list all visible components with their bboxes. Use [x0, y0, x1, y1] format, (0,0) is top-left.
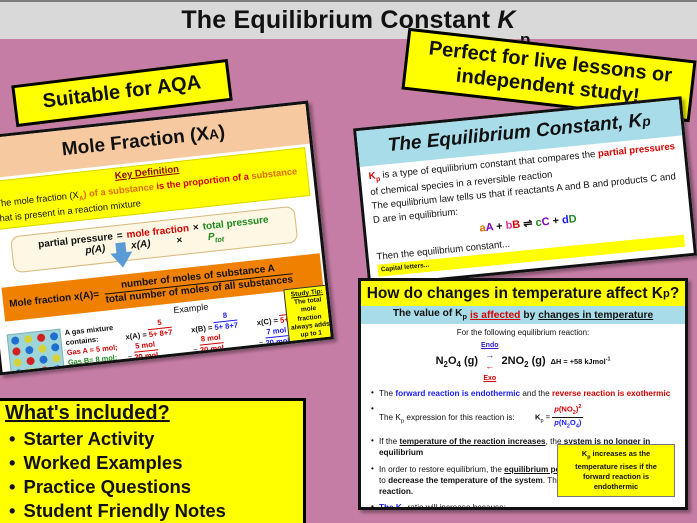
page-title-text: The Equilibrium Constant — [181, 6, 497, 34]
temp-title-sub: p — [663, 288, 670, 300]
gas-mixture-diagram — [7, 329, 66, 376]
mole-fraction-title-text: Mole Fraction (X — [61, 124, 210, 162]
panel-whats-included: What's included? Starter Activity Worked… — [0, 398, 306, 523]
calc-b-fraction2: 8 mol20 mol — [198, 332, 224, 355]
b4-p3: decrease the temperature of the system — [388, 476, 543, 485]
kp-p1-b: partial pressures — [597, 141, 675, 159]
gas-legend: A gas mixture contains: Gas A = 5 mol; G… — [64, 322, 125, 375]
calc-a-den2: 20 mol — [134, 350, 159, 362]
rxn-right: 2NO2 (g) — [502, 355, 546, 367]
gas-particle-dot — [40, 366, 49, 375]
pp-equals: = — [116, 231, 123, 243]
kp-expression: Kp = p(NO2)2 p(N2O4) — [535, 404, 583, 431]
kpexp-num-a: (NO — [559, 405, 573, 414]
study-tip-box: Study Tip: The total mole fraction alway… — [283, 284, 334, 344]
temp-intro: For the following equilibrium reaction: — [361, 328, 685, 337]
temp-sub-a-sub: p — [462, 313, 466, 322]
temp-title-end: ? — [670, 285, 679, 303]
gas-particle-dot — [26, 356, 35, 365]
gas-particle-dot — [10, 336, 19, 345]
gas-particle-dot — [50, 342, 59, 351]
kpexp-num-sup: 2 — [578, 404, 581, 410]
pp-sym-mid: x(A) — [131, 239, 152, 254]
page-title-bar: The Equilibrium Constant K — [0, 0, 697, 39]
b1-p0: The — [379, 389, 395, 398]
gas-particle-dot — [27, 367, 36, 375]
gas-particle-dot — [37, 344, 46, 353]
kpexp-den-a: (N — [559, 418, 567, 427]
pp-times: × — [192, 223, 199, 235]
calc-c-eq2: = — [259, 338, 264, 347]
calc-a-den: 5+ 8+7 — [148, 327, 172, 339]
list-item: The Kp ratio will increase because: p(NO… — [371, 502, 677, 510]
calc-a-eq2: = — [127, 353, 132, 362]
rxn-left-o: O — [448, 355, 457, 367]
eq-reversible-arrow-icon: ⇌ — [520, 217, 536, 230]
gas-particle-dot — [14, 369, 23, 376]
temperature-card-title: How do changes in temperature affect Kp? — [361, 281, 685, 306]
pp-sym-left: p(A) — [85, 244, 106, 259]
pp-sym-times: × — [176, 235, 183, 249]
banner-aqa-label: Suitable for AQA — [42, 72, 203, 115]
calc-a-fraction2: 5 mol20 mol — [133, 339, 159, 362]
rxn-dh-sup: -1 — [606, 356, 611, 362]
study-tip-body: The total mole fraction always adds up t… — [291, 297, 330, 339]
calc-b-den: 5+ 8+7 — [214, 320, 238, 332]
rxn-endo-label: Endo — [481, 342, 499, 349]
whats-included-heading: What's included? — [0, 401, 303, 425]
calc-b-den2: 20 mol — [199, 343, 224, 355]
gas-particle-dot — [53, 364, 62, 373]
gas-particle-dot — [23, 334, 32, 343]
gas-particle-dot — [49, 332, 58, 341]
gas-particle-dot — [39, 355, 48, 364]
b3-p1: temperature of the reaction increases — [399, 437, 545, 446]
calc-b-eq2: = — [193, 346, 198, 355]
list-item: Student Friendly Notes — [9, 499, 303, 523]
list-item: The Kp expression for this reaction is: … — [371, 404, 677, 431]
b5-lead-a: The K — [379, 503, 402, 510]
temp-sub-a: The value of Kp — [393, 308, 467, 321]
calc-a-result: = 0.25 — [128, 361, 150, 372]
calc-c-fraction2: 7 mol20 mol — [264, 325, 290, 348]
list-item: The forward reaction is endothermic and … — [371, 388, 677, 399]
gas-particle-dot — [24, 345, 33, 354]
rxn-left-state: (g) — [461, 355, 478, 367]
slide-canvas: The Equilibrium Constant K p Suitable fo… — [0, 0, 697, 523]
temp-reaction-equation: N2O4 (g)Endo→←Exo2NO2 (g)ΔH = +58 kJmol-… — [361, 339, 685, 383]
kp-summary-note-box: Kp increases as the temperature rises if… — [557, 444, 675, 497]
list-item: Worked Examples — [9, 451, 303, 475]
temp-sub-a-text: The value of K — [393, 308, 463, 319]
kpexp-fraction: p(NO2)2 p(N2O4) — [552, 404, 583, 431]
b5-lead-sub: p — [402, 508, 406, 510]
calc-c-den2: 20 mol — [265, 336, 290, 348]
b5-lead-b: ratio will increase because: — [405, 503, 506, 510]
rxn-enthalpy: ΔH = +58 kJmol-1 — [551, 357, 611, 366]
list-item: Starter Activity — [9, 427, 303, 451]
page-title: The Equilibrium Constant K — [181, 6, 515, 35]
slide-card-temperature-effect[interactable]: How do changes in temperature affect Kp?… — [358, 278, 688, 510]
kpexp-eq: = — [546, 413, 550, 422]
rxn-left-n: N — [436, 355, 444, 367]
gas-particle-dot — [13, 358, 22, 367]
b1-p3: reverse reaction is exothermic — [552, 389, 670, 398]
temp-sub-d: changes in temperature — [538, 310, 653, 321]
calculation-a: x(A) = 55+ 8+7 = 5 mol20 mol = 0.25 — [124, 315, 191, 373]
gas-particle-dot — [36, 333, 45, 342]
kpexp-denominator: p(N2O4) — [554, 418, 581, 427]
rxn-exo-label: Exo — [483, 375, 496, 382]
whats-included-list: Starter Activity Worked Examples Practic… — [0, 425, 303, 523]
pp-sym-right-sub: tot — [215, 235, 225, 245]
b1-p2: and the — [520, 389, 552, 398]
b3-p0: If the — [379, 437, 399, 446]
kpexp-sub: p — [541, 418, 544, 424]
calc-b-fraction1: 85+ 8+7 — [213, 310, 239, 333]
blue-arrow-icon — [110, 251, 133, 268]
rxn-double-arrow-icon: Endo→←Exo — [481, 339, 499, 383]
page-title-k: K — [497, 6, 515, 34]
kpexp-den-c: ) — [579, 418, 582, 427]
gas-legend-c: Gas C = 7 mol — [69, 363, 119, 376]
mole-fraction-title-close: ) — [218, 122, 227, 145]
gas-particle-dot — [51, 353, 60, 362]
gas-particle-dot — [11, 347, 20, 356]
rxn-left: N2O4 (g) — [436, 355, 478, 367]
b2-p0: The K — [379, 413, 401, 422]
definition-part4: substance — [251, 166, 298, 181]
eq-species-D: D — [568, 213, 577, 226]
temp-title-text: How do changes in temperature affect K — [367, 285, 663, 303]
temp-sub-c: by — [523, 310, 535, 321]
list-item: Practice Questions — [9, 475, 303, 499]
b2-p2: expression for this reaction is: — [404, 413, 515, 422]
b1-p1: forward reaction is endothermic — [395, 389, 520, 398]
rxn-dh-text: ΔH = +58 kJmol — [551, 357, 606, 366]
rxn-right-no: 2NO — [502, 355, 525, 367]
temperature-card-subtitle: The value of Kp is affected by changes i… — [361, 306, 685, 324]
calc-a-fraction1: 55+ 8+7 — [147, 317, 173, 340]
calculation-b: x(B) = 85+ 8+7 = 8 mol20 mol = 0.40 — [189, 308, 256, 366]
kp-card-title-sub: p — [641, 113, 651, 129]
pp-sym-right: Ptot — [207, 231, 224, 246]
b5-lead: The Kp ratio will increase because: — [379, 503, 506, 510]
slide-card-equilibrium-constant[interactable]: The Equilibrium Constant, Kp Kp is a typ… — [353, 96, 697, 287]
b4-p0: In order to restore equilibrium, the — [379, 465, 504, 474]
temp-sub-b: is affected — [470, 310, 520, 321]
b4-p2: to — [379, 476, 388, 485]
rxn-right-state: (g) — [529, 355, 546, 367]
mole-fraction-formula-label: Mole fraction x(A)= — [9, 289, 100, 310]
kpexp-numerator: p(NO2)2 — [552, 404, 583, 418]
calc-c-result: = 0.35 — [260, 346, 282, 357]
slide-card-mole-fraction[interactable]: Mole Fraction (XA) Key Definition The mo… — [0, 101, 334, 376]
calc-b-result: = 0.40 — [194, 354, 216, 365]
